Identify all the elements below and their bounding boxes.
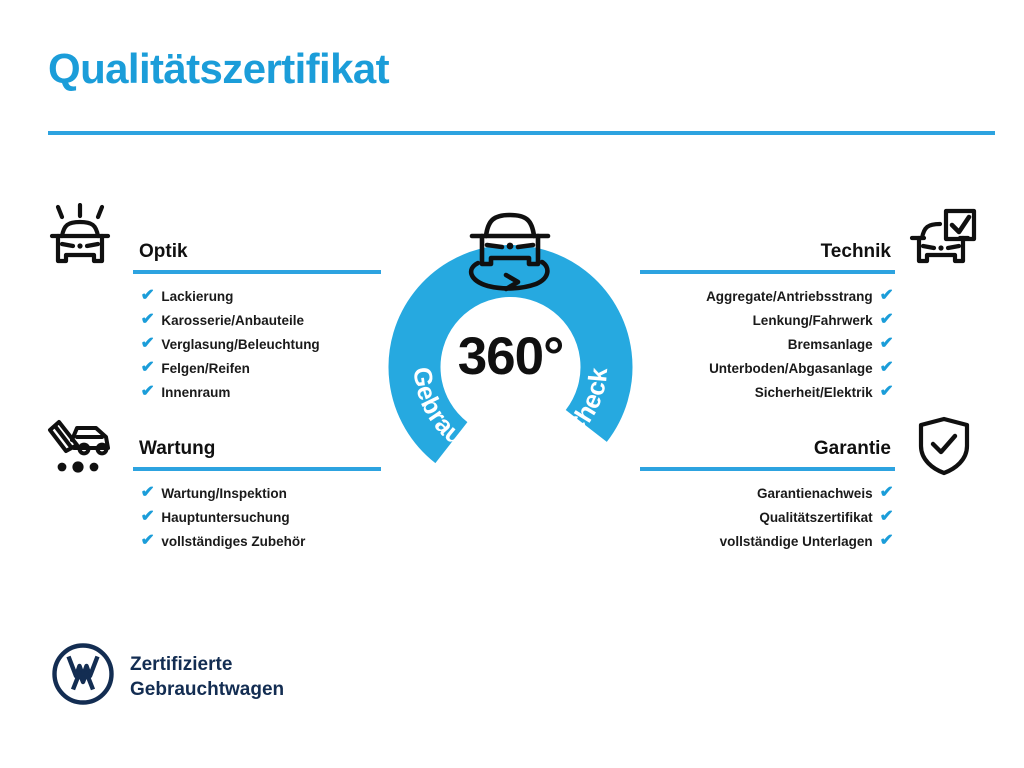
list-item: ✔ Lenkung/Fahrwerk xyxy=(640,308,893,332)
section-wartung: Wartung ✔ Wartung/Inspektion ✔ Hauptunte… xyxy=(133,437,381,553)
list-item-label: Garantienachweis xyxy=(757,486,873,501)
list-item-label: vollständige Unterlagen xyxy=(720,534,873,549)
section-title: Technik xyxy=(640,240,895,264)
section-title: Optik xyxy=(133,240,381,264)
list-item-label: Sicherheit/Elektrik xyxy=(755,385,873,400)
section-underline xyxy=(640,270,895,274)
check-icon: ✔ xyxy=(879,336,893,352)
section-garantie: Garantie ✔ Garantienachweis ✔ Qualitätsz… xyxy=(640,437,895,553)
check-icon: ✔ xyxy=(879,384,893,400)
list-item: ✔ Innenraum xyxy=(141,380,381,404)
section-optik: Optik ✔ Lackierung ✔ Karosserie/Anbautei… xyxy=(133,240,381,404)
check-icon: ✔ xyxy=(879,288,893,304)
check-icon: ✔ xyxy=(879,360,893,376)
list-item: ✔ Unterboden/Abgasanlage xyxy=(640,356,893,380)
check-icon: ✔ xyxy=(879,509,893,525)
section-header: Optik xyxy=(133,240,381,274)
list-item-label: Qualitätszertifikat xyxy=(759,510,872,525)
check-icon: ✔ xyxy=(879,312,893,328)
section-underline xyxy=(133,467,381,471)
wartung-check-list: ✔ Wartung/Inspektion ✔ Hauptuntersuchung… xyxy=(133,481,381,553)
list-item: ✔ vollständige Unterlagen xyxy=(640,529,893,553)
section-title: Garantie xyxy=(640,437,895,461)
check-icon: ✔ xyxy=(141,509,155,525)
list-item: ✔ Hauptuntersuchung xyxy=(141,505,381,529)
optik-check-list: ✔ Lackierung ✔ Karosserie/Anbauteile ✔ V… xyxy=(133,284,381,404)
list-item-label: vollständiges Zubehör xyxy=(161,534,305,549)
list-item: ✔ Wartung/Inspektion xyxy=(141,481,381,505)
check-icon: ✔ xyxy=(141,336,155,352)
list-item-label: Felgen/Reifen xyxy=(161,361,250,376)
header-divider xyxy=(48,131,995,135)
list-item: ✔ Karosserie/Anbauteile xyxy=(141,308,381,332)
list-item: ✔ Lackierung xyxy=(141,284,381,308)
volkswagen-logo-icon xyxy=(52,643,114,710)
list-item-label: Hauptuntersuchung xyxy=(161,510,289,525)
section-title: Wartung xyxy=(133,437,381,461)
section-underline xyxy=(640,467,895,471)
section-header: Garantie xyxy=(640,437,895,471)
list-item-label: Bremsanlage xyxy=(788,337,873,352)
section-technik: Technik ✔ Aggregate/Antriebsstrang ✔ Len… xyxy=(640,240,895,404)
check-icon: ✔ xyxy=(141,485,155,501)
list-item-label: Lenkung/Fahrwerk xyxy=(753,313,873,328)
list-item-label: Verglasung/Beleuchtung xyxy=(161,337,319,352)
list-item: ✔ Garantienachweis xyxy=(640,481,893,505)
shield-check-icon xyxy=(915,415,973,482)
badge-center-label: 360° xyxy=(378,330,643,383)
list-item: ✔ Aggregate/Antriebsstrang xyxy=(640,284,893,308)
list-item-label: Unterboden/Abgasanlage xyxy=(709,361,873,376)
section-header: Technik xyxy=(640,240,895,274)
list-item-label: Lackierung xyxy=(161,289,233,304)
list-item: ✔ Bremsanlage xyxy=(640,332,893,356)
brand-text: Zertifizierte Gebrauchtwagen xyxy=(130,652,284,702)
check-icon: ✔ xyxy=(141,360,155,376)
list-item-label: Wartung/Inspektion xyxy=(161,486,287,501)
list-item-label: Karosserie/Anbauteile xyxy=(161,313,304,328)
list-item: ✔ Sicherheit/Elektrik xyxy=(640,380,893,404)
car-service-pen-icon xyxy=(44,418,116,481)
check-icon: ✔ xyxy=(879,485,893,501)
car-rotate-360-icon xyxy=(458,203,562,295)
list-item: ✔ vollständiges Zubehör xyxy=(141,529,381,553)
list-item-label: Aggregate/Antriebsstrang xyxy=(706,289,873,304)
check-icon: ✔ xyxy=(879,533,893,549)
page-title: Qualitätszertifikat xyxy=(48,48,389,90)
check-icon: ✔ xyxy=(141,533,155,549)
section-header: Wartung xyxy=(133,437,381,471)
list-item: ✔ Verglasung/Beleuchtung xyxy=(141,332,381,356)
list-item-label: Innenraum xyxy=(161,385,230,400)
car-front-checkbox-icon xyxy=(908,203,980,274)
technik-check-list: ✔ Aggregate/Antriebsstrang ✔ Lenkung/Fah… xyxy=(640,284,895,404)
brand-line-2: Gebrauchtwagen xyxy=(130,677,284,702)
section-underline xyxy=(133,270,381,274)
check-icon: ✔ xyxy=(141,288,155,304)
garantie-check-list: ✔ Garantienachweis ✔ Qualitätszertifikat… xyxy=(640,481,895,553)
brand-lockup: Zertifizierte Gebrauchtwagen xyxy=(52,643,284,710)
brand-line-1: Zertifizierte xyxy=(130,652,284,677)
check-icon: ✔ xyxy=(141,384,155,400)
list-item: ✔ Felgen/Reifen xyxy=(141,356,381,380)
list-item: ✔ Qualitätszertifikat xyxy=(640,505,893,529)
car-front-shine-icon xyxy=(44,203,116,274)
check-icon: ✔ xyxy=(141,312,155,328)
